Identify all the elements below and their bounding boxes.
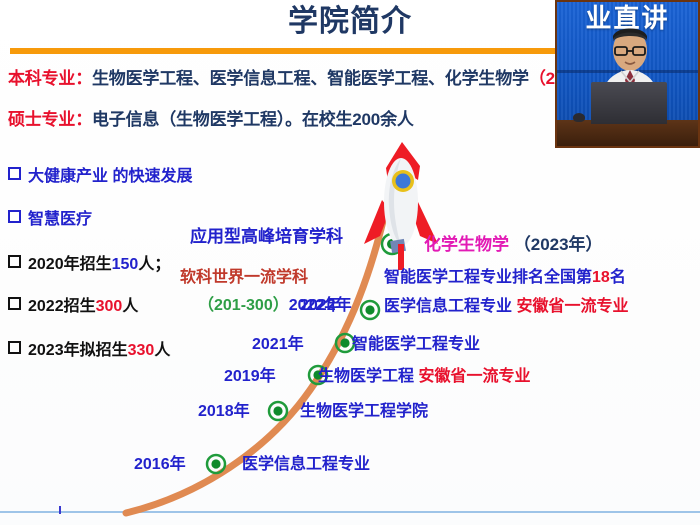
bullet-3-pre: 2020年招生 — [28, 256, 112, 273]
annotation-smart-med-rank: 智能医学工程专业排名全国第18名 — [384, 263, 626, 287]
master-programs-line: 硕士专业：电子信息（生物医学工程）。在校生200余人 — [8, 105, 414, 130]
slide-root: 学院简介 本科专业：生物医学工程、医学信息工程、智能医学工程、化学生物学（202… — [0, 0, 700, 525]
timeline-year-2016: 2016年 — [134, 450, 186, 474]
undergrad-majors: 生物医学工程、医学信息工程、智能医学工程、化学生物学 — [92, 69, 529, 88]
annotation-chem-bio: 化学生物学 — [424, 235, 509, 254]
presenter-video-inset[interactable]: 业直讲 — [555, 0, 700, 148]
annotation-chem-bio-year: （2023年） — [514, 235, 603, 254]
bullet-4-pre: 2022招生 — [28, 298, 96, 315]
timeline-event-2019-line: 生物医学工程 安徽省一流专业 — [318, 362, 530, 386]
medinfo-major-label: 医学信息工程专业 — [384, 298, 512, 315]
bullet-enrollment-2023: 2023年拟招生330人 — [8, 336, 170, 360]
bullet-4-post: 人 — [122, 298, 138, 315]
video-laptop — [591, 82, 667, 124]
bullet-box-icon — [8, 210, 21, 223]
undergrad-programs-line: 本科专业：生物医学工程、医学信息工程、智能医学工程、化学生物学（202 — [8, 64, 573, 89]
timeline-year-2022: 2022年 — [300, 291, 352, 315]
bullet-3-post: 人； — [138, 256, 170, 273]
timeline-event-2019: 生物医学工程 — [318, 368, 414, 385]
timeline-event-2018: 生物医学工程学院 — [300, 397, 428, 421]
bullet-1-rest: 的快速发展 — [108, 168, 192, 185]
bullet-health-industry: 大健康产业 的快速发展 — [8, 162, 192, 186]
bullet-box-icon — [8, 341, 21, 354]
timeline-year-2019: 2019年 — [224, 362, 276, 386]
bullet-5-number: 330 — [128, 342, 155, 359]
undergrad-label: 本科专业： — [8, 69, 92, 88]
bullet-box-icon — [8, 297, 21, 310]
bullet-enrollment-2022: 2022招生300人 — [8, 292, 138, 316]
master-text: 电子信息（生物医学工程）。在校生200余人 — [92, 110, 414, 129]
timeline-year-2018: 2018年 — [198, 397, 250, 421]
annotation-ruanke-world-class: 软科世界一流学科 — [180, 263, 308, 287]
medinfo-anhui-badge: 安徽省一流专业 — [516, 298, 628, 315]
video-mouse — [573, 113, 585, 122]
bullet-1-emph: 大健康产业 — [28, 168, 108, 185]
master-label: 硕士专业： — [8, 110, 92, 129]
smart-rank-post: 名 — [610, 269, 626, 286]
bullet-smart-healthcare: 智慧医疗 — [8, 205, 92, 229]
bullet-box-icon — [8, 255, 21, 268]
bullet-5-pre: 2023年拟招生 — [28, 342, 128, 359]
annotation-peak-discipline: 应用型高峰培育学科 — [190, 222, 343, 247]
timeline-event-2021: 智能医学工程专业 — [352, 330, 480, 354]
bullet-box-icon — [8, 167, 21, 180]
timeline-year-2021: 2021年 — [252, 330, 304, 354]
annotation-medinfo-first-class: 医学信息工程专业 安徽省一流专业 — [384, 292, 628, 316]
rocket-window — [396, 174, 411, 189]
timeline-event-2019-badge: 安徽省一流专业 — [418, 368, 530, 385]
bullet-4-number: 300 — [96, 298, 123, 315]
smart-rank-pre: 智能医学工程专业排名全国第 — [384, 269, 592, 286]
bullet-2-emph: 智慧医疗 — [28, 211, 92, 228]
bullet-enrollment-2020: 2020年招生150人； — [8, 250, 170, 274]
marker-2022 — [361, 301, 379, 319]
bullet-5-post: 人 — [154, 342, 170, 359]
timeline-event-2016: 医学信息工程专业 — [242, 450, 370, 474]
smart-rank-number: 18 — [592, 269, 610, 286]
bullet-3-number: 150 — [112, 256, 139, 273]
annotation-chem-bio-line: 化学生物学 （2023年） — [424, 230, 603, 255]
annotation-ruanke-rank: （201-300） — [198, 297, 289, 314]
marker-2016 — [207, 455, 225, 473]
marker-2018 — [269, 402, 287, 420]
